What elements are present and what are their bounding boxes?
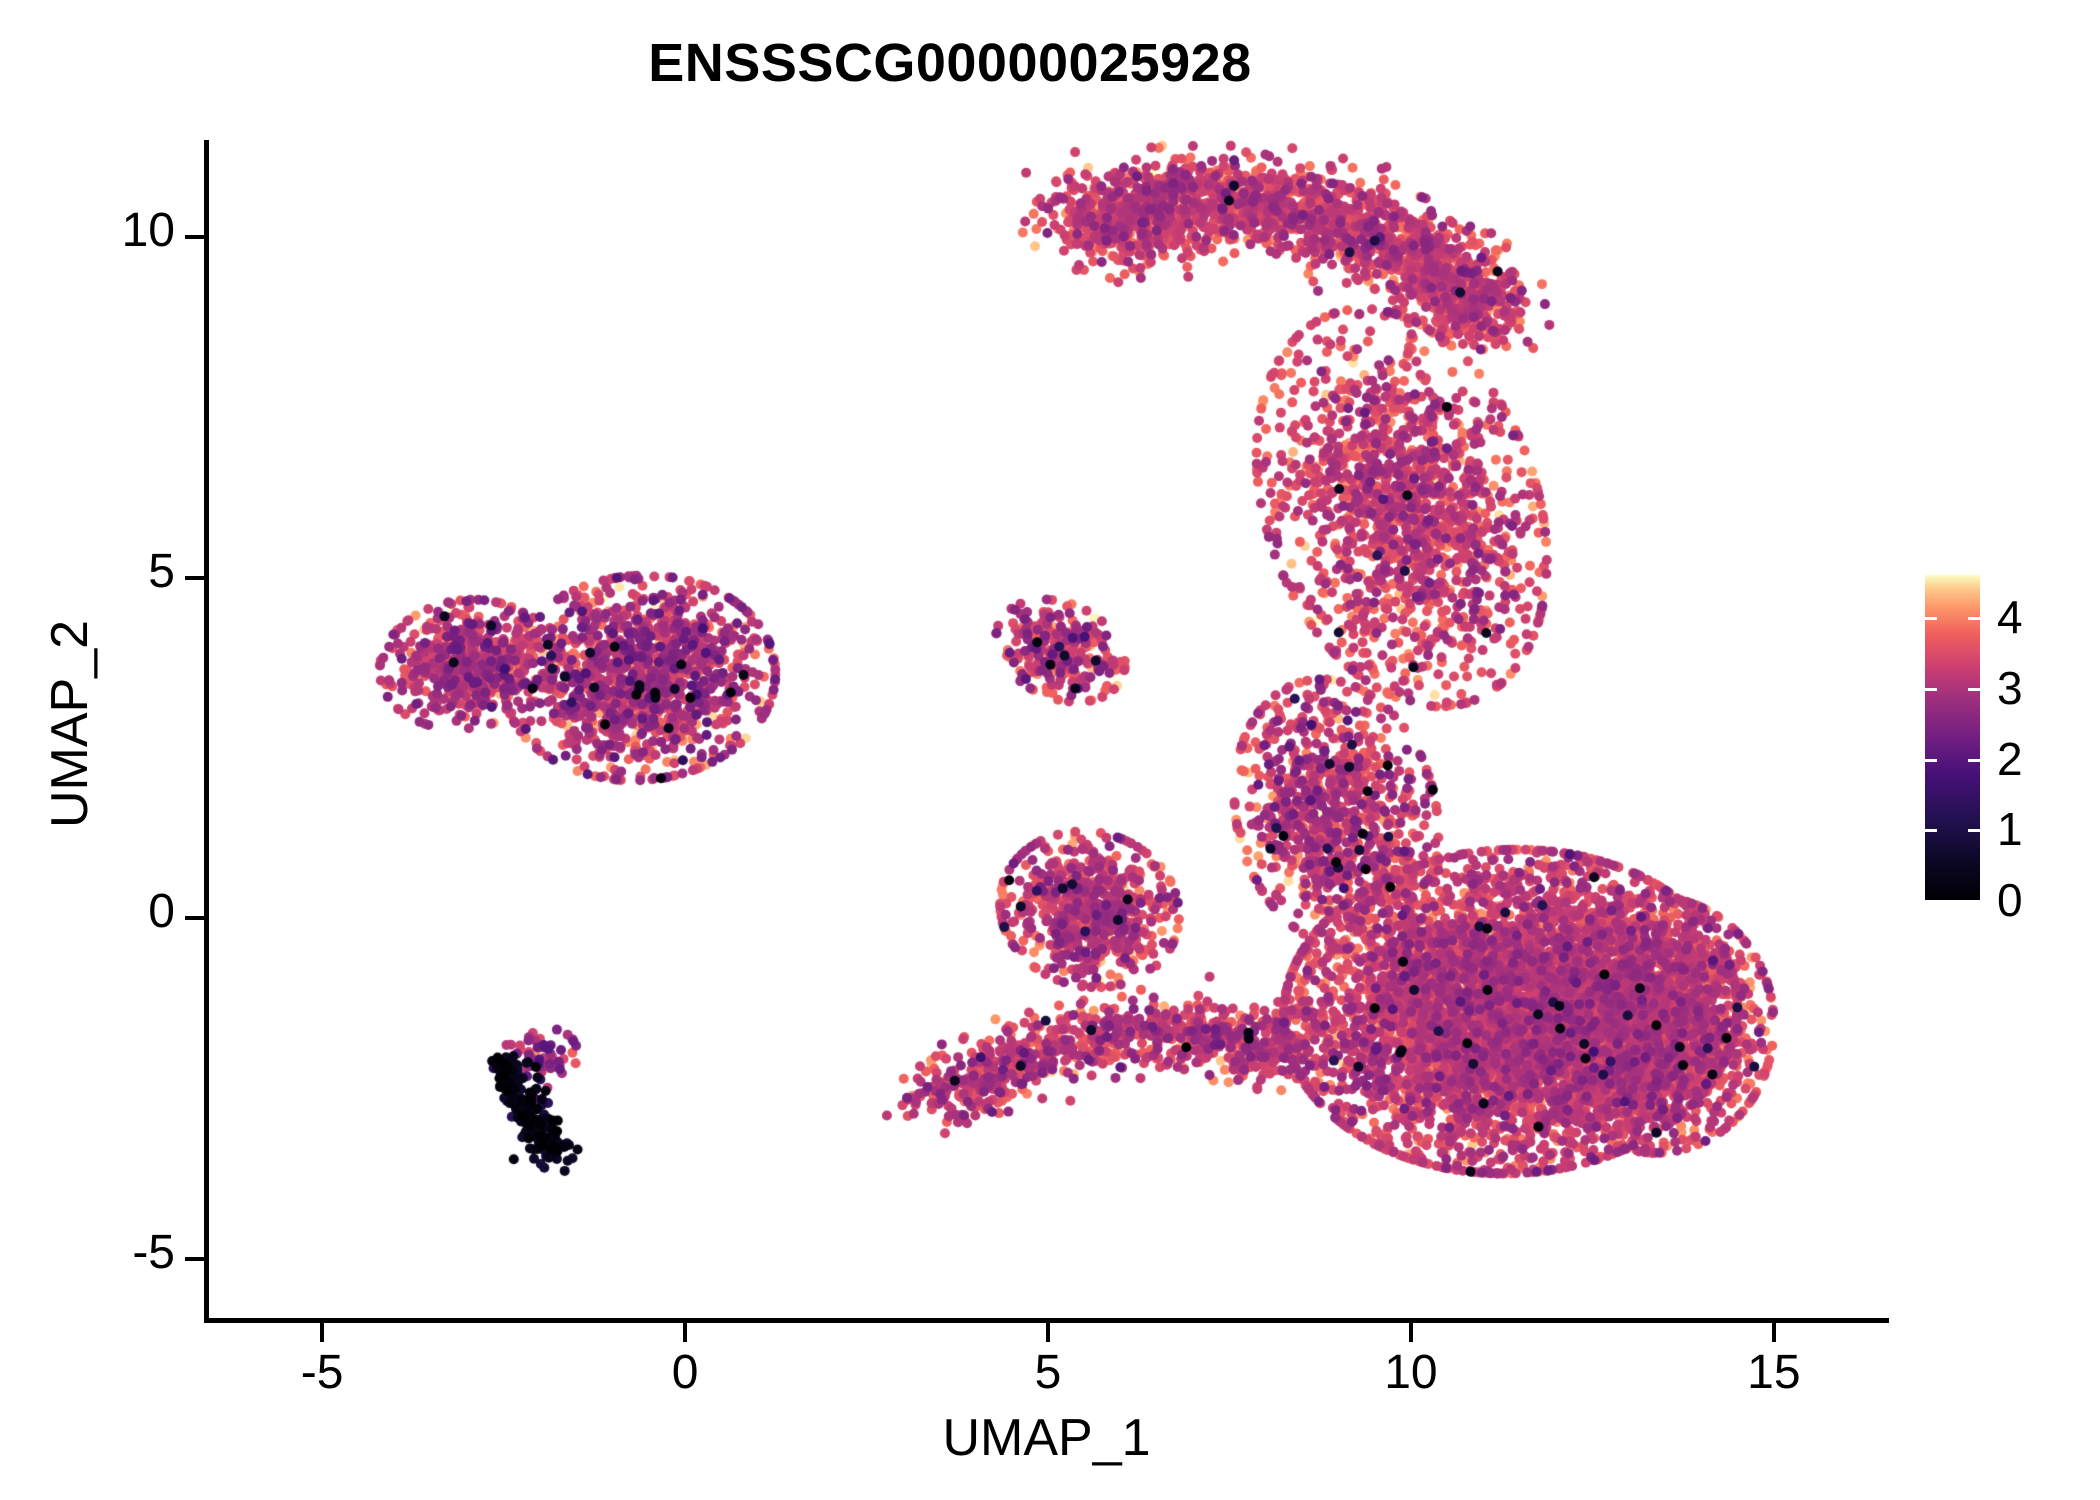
y-tick-mark: [185, 916, 204, 920]
colorbar-tick-mark: [1925, 829, 1937, 832]
y-axis-title: UMAP_2: [40, 324, 100, 1124]
y-tick-label: 10: [0, 203, 175, 258]
colorbar-tick-label: 1: [1997, 806, 2023, 852]
colorbar-legend: 43210: [1925, 575, 2085, 905]
x-tick-label: 0: [605, 1345, 765, 1400]
colorbar-tick-label: 3: [1997, 665, 2023, 711]
y-tick-mark: [185, 576, 204, 580]
y-axis-line: [204, 140, 209, 1322]
y-tick-mark: [185, 1257, 204, 1261]
x-tick-label: -5: [242, 1345, 402, 1400]
x-tick-label: 15: [1694, 1345, 1854, 1400]
colorbar-gradient: [1925, 575, 1980, 900]
x-tick-mark: [1772, 1323, 1776, 1342]
colorbar-tick-mark: [1925, 688, 1937, 691]
colorbar-tick-mark: [1925, 617, 1937, 620]
colorbar-tick-label: 2: [1997, 736, 2023, 782]
colorbar-tick-mark: [1968, 759, 1980, 762]
colorbar-tick-mark: [1968, 900, 1980, 903]
colorbar-tick-mark: [1968, 829, 1980, 832]
scatter-canvas: [204, 140, 1888, 1318]
x-tick-mark: [320, 1323, 324, 1342]
x-tick-label: 5: [968, 1345, 1128, 1400]
plot-panel: [204, 140, 1888, 1318]
y-tick-mark: [185, 235, 204, 239]
x-tick-mark: [1046, 1323, 1050, 1342]
colorbar-tick-label: 4: [1997, 594, 2023, 640]
x-tick-label: 10: [1331, 1345, 1491, 1400]
y-tick-label: -5: [0, 1225, 175, 1280]
x-axis-title: UMAP_1: [204, 1408, 1889, 1468]
page-title: ENSSSCG00000025928: [0, 32, 1900, 94]
colorbar-tick-mark: [1925, 759, 1937, 762]
colorbar-tick-mark: [1968, 688, 1980, 691]
colorbar-tick-mark: [1968, 617, 1980, 620]
colorbar-tick-label: 0: [1997, 877, 2023, 923]
colorbar-tick-mark: [1925, 900, 1937, 903]
x-tick-mark: [1409, 1323, 1413, 1342]
umap-plot-root: ENSSSCG00000025928 -5051015 1050-5 UMAP_…: [0, 0, 2100, 1500]
x-tick-mark: [683, 1323, 687, 1342]
